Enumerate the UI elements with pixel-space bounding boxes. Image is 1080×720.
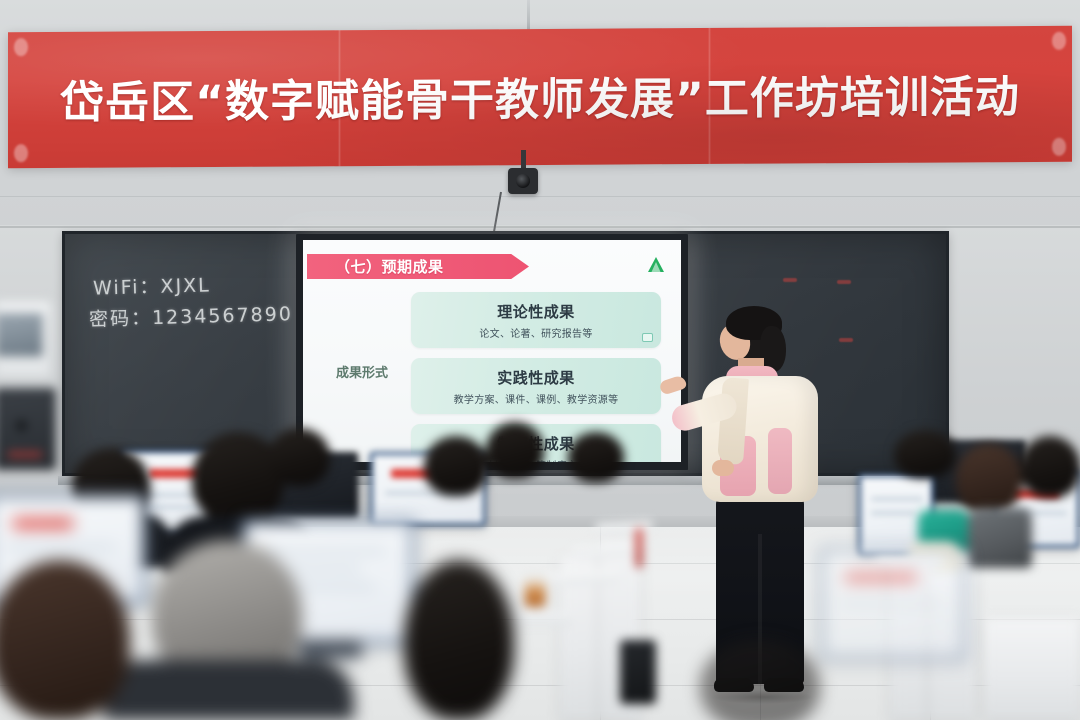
- attendee-head: [894, 430, 956, 478]
- wall-speaker-box: [0, 388, 56, 470]
- equipment-case: [620, 640, 656, 704]
- attendee-head: [424, 436, 488, 496]
- monitor-text-line: [263, 549, 387, 553]
- attendee-head: [486, 422, 544, 478]
- wall-speaker-dot-icon: [16, 420, 27, 431]
- monitor[interactable]: [820, 548, 966, 660]
- monitor-stand: [300, 640, 362, 658]
- wall-speaker-logo: [8, 452, 42, 457]
- monitor-text-line: [871, 497, 923, 501]
- foreground-computer-lab: [0, 0, 1080, 720]
- wall-panel-screen[interactable]: [0, 312, 44, 358]
- keyboard[interactable]: [512, 612, 572, 626]
- classroom-photo-scene: 岱岳区“数字赋能骨干教师发展”工作坊培训活动 WiFi：XJXL 密码：1234…: [0, 0, 1080, 720]
- desk-edge: [596, 521, 652, 534]
- attendee-head: [568, 432, 624, 482]
- desk-surface: [984, 618, 1080, 720]
- attendee-head: [700, 640, 820, 720]
- attendee-shoulders: [104, 660, 354, 720]
- monitor-text-line: [839, 601, 943, 605]
- attendee-head: [268, 428, 330, 486]
- monitor-red-banner: [13, 519, 73, 528]
- red-pen: [636, 528, 642, 568]
- grey-backpack: [968, 508, 1032, 568]
- attendee-head: [956, 444, 1022, 514]
- monitor-red-banner: [845, 573, 917, 582]
- monitor-text-line: [871, 511, 915, 515]
- tea-cup: [524, 578, 546, 608]
- monitor-text-line: [5, 545, 115, 549]
- attendee-head: [404, 560, 514, 720]
- attendee-head: [0, 560, 130, 720]
- attendee-head: [1020, 436, 1080, 498]
